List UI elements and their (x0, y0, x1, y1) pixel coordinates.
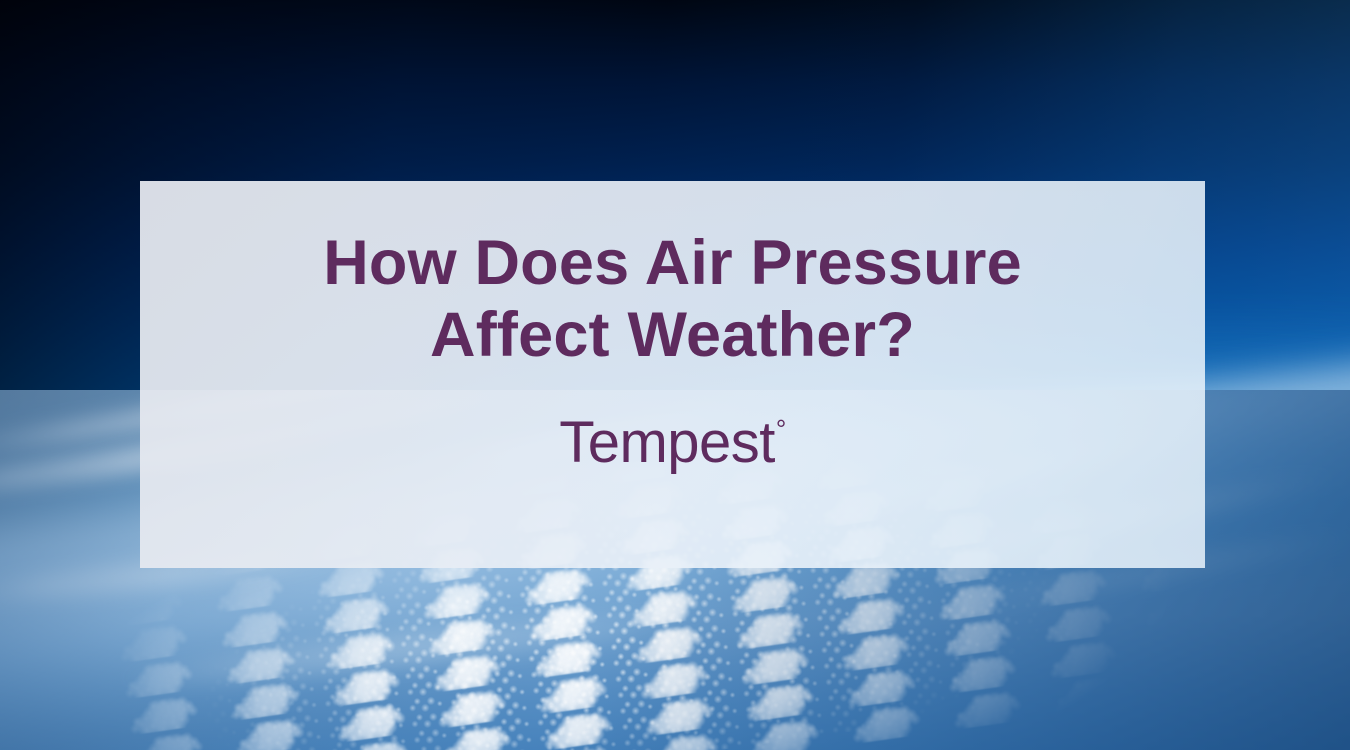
page-title-line-2: Affect Weather? (140, 300, 1205, 372)
degree-symbol-icon: ° (776, 416, 786, 442)
page-title-line-1: How Does Air Pressure (140, 228, 1205, 300)
tempest-logo: Tempest ° (559, 414, 786, 472)
hero-banner: How Does Air Pressure Affect Weather? Te… (0, 0, 1350, 750)
page-title: How Does Air Pressure Affect Weather? (140, 228, 1205, 372)
tempest-logo-wordmark: Tempest (559, 414, 775, 472)
hero-content-card: How Does Air Pressure Affect Weather? Te… (140, 181, 1205, 568)
